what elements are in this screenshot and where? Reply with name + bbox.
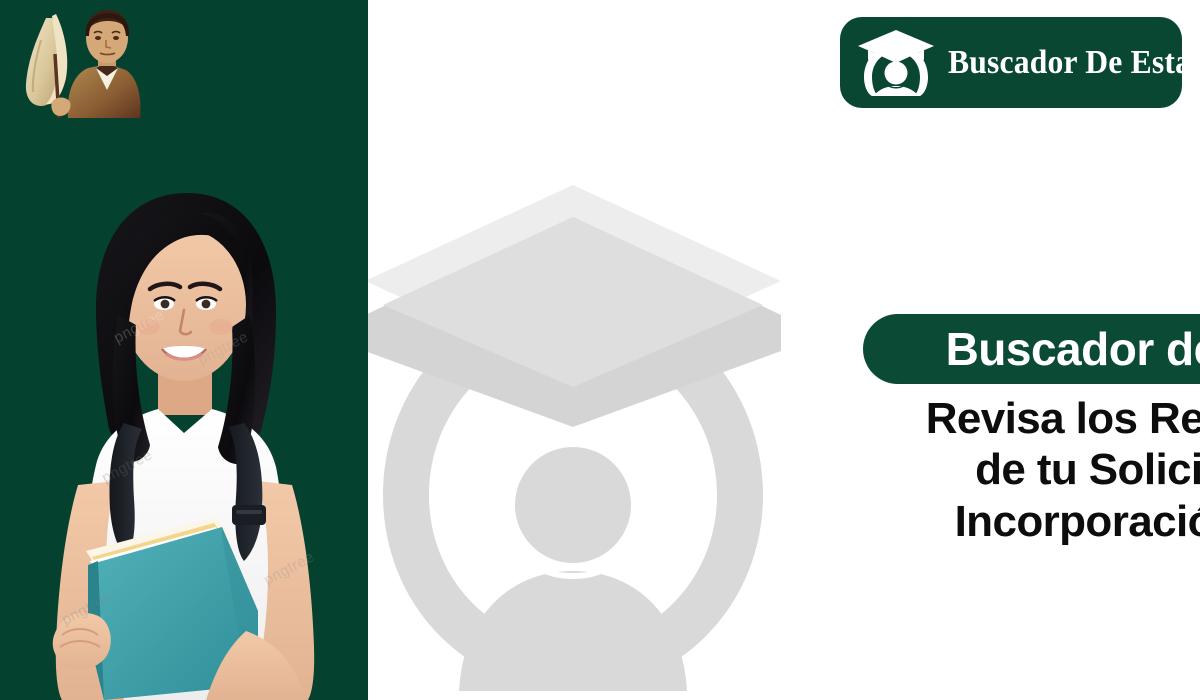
hero-banner: pngtree pngtree pngtree pngtree pngtree <box>0 0 1200 700</box>
subtitle-line-2: de tu Solicitud de <box>823 444 1200 495</box>
brand-badge[interactable]: Buscador De Estatus <box>840 17 1182 108</box>
benito-juarez-emblem-icon <box>8 6 148 126</box>
student-photo <box>0 165 368 700</box>
graduation-cap-watermark-icon <box>368 175 783 695</box>
left-green-panel: pngtree pngtree pngtree pngtree pngtree <box>0 0 368 700</box>
page-subtitle: Revisa los Resultados de tu Solicitud de… <box>823 393 1200 547</box>
page-title-pill: Buscador de Folios <box>863 314 1200 384</box>
subtitle-line-3: Incorporación (CSI) <box>823 496 1200 547</box>
page-title: Buscador de Folios <box>946 326 1200 372</box>
brand-badge-label: Buscador De Estatus <box>948 44 1200 82</box>
graduation-cap-avatar-icon <box>858 30 934 96</box>
subtitle-line-1: Revisa los Resultados <box>823 393 1200 444</box>
